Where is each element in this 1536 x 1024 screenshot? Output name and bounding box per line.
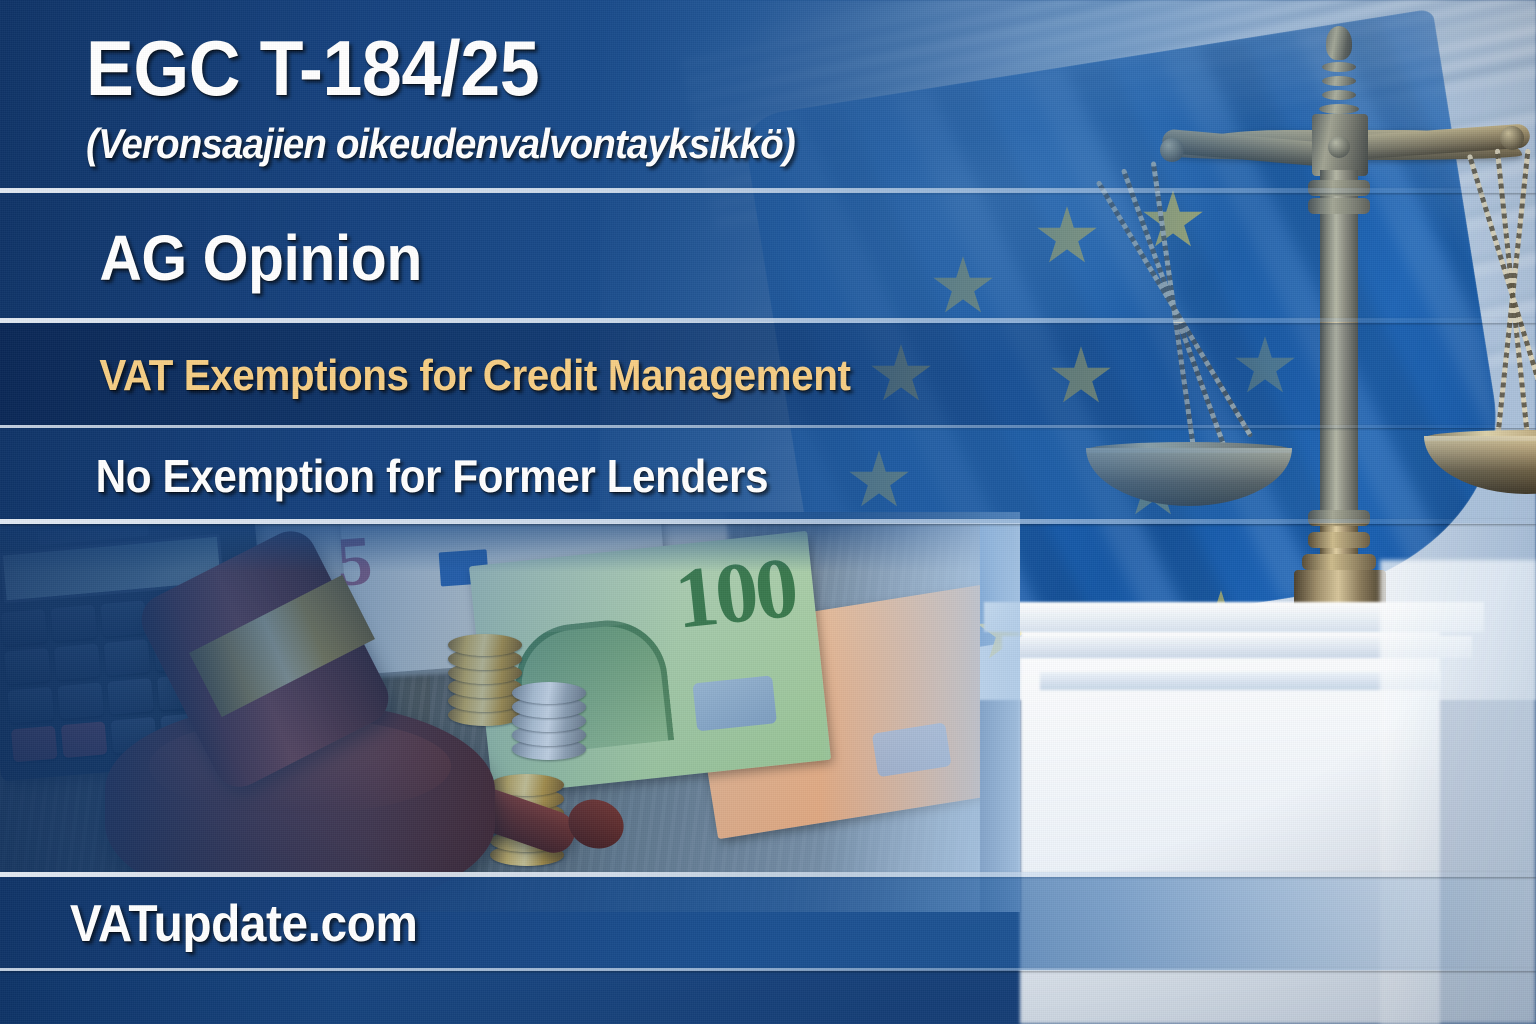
case-title: EGC T-184/25 <box>86 29 795 107</box>
header-band: EGC T-184/25 (Veronsaajien oikeudenvalvo… <box>0 0 1536 193</box>
ag-opinion-band: AG Opinion <box>0 193 1536 322</box>
band-divider-4 <box>0 519 1536 524</box>
no-exemption-band: No Exemption for Former Lenders <box>0 428 1536 523</box>
site-name[interactable]: VATupdate.com <box>0 894 417 954</box>
footer-band: VATupdate.com <box>0 877 1536 970</box>
no-exemption-label: No Exemption for Former Lenders <box>0 449 768 503</box>
vat-exemptions-label: VAT Exemptions for Credit Management <box>0 351 851 401</box>
footer-divider-bottom <box>0 968 1536 971</box>
case-subtitle: (Veronsaajien oikeudenvalvontayksikkö) <box>86 123 795 165</box>
vat-exemptions-band: VAT Exemptions for Credit Management <box>0 323 1536 428</box>
ag-opinion-label: AG Opinion <box>0 221 422 295</box>
graphic-canvas: 5 50 100 <box>0 0 1536 1024</box>
